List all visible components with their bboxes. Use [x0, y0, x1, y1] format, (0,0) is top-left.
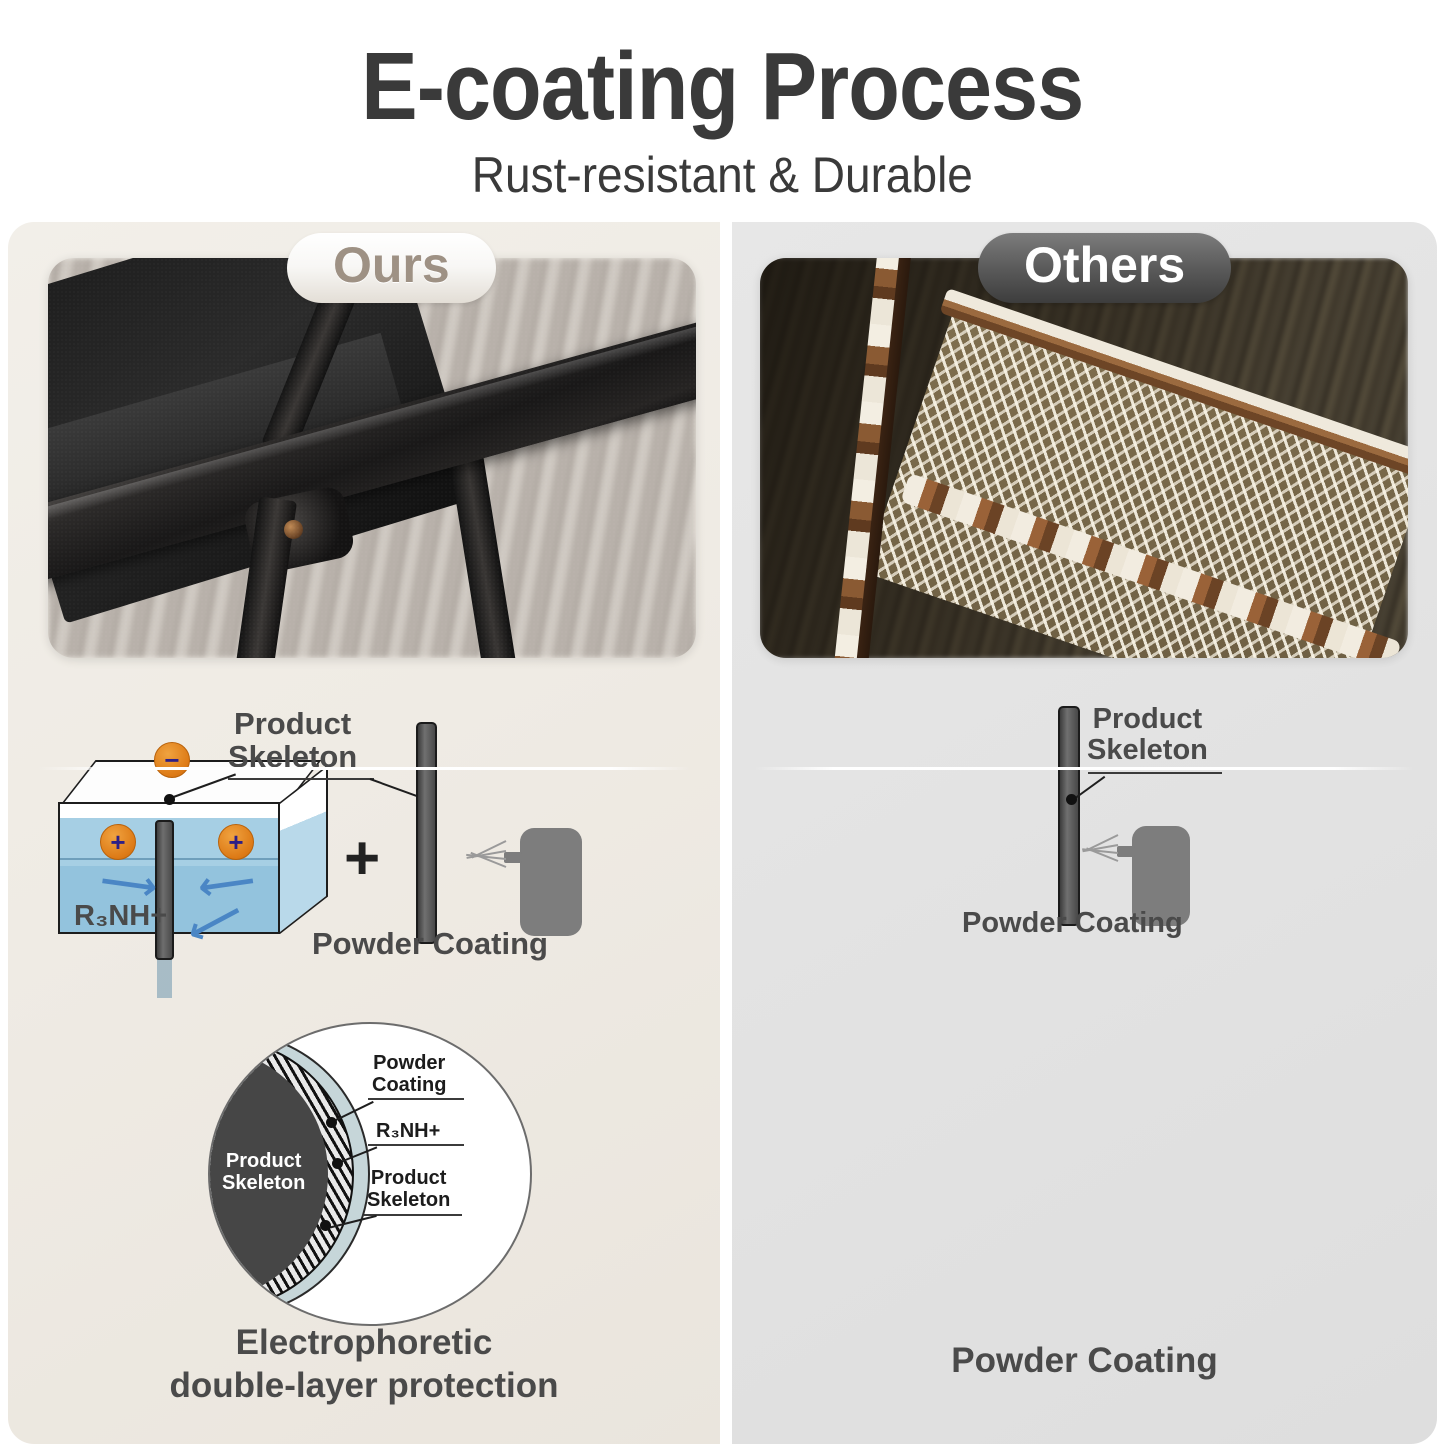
- charge-positive-icon-1: +: [100, 824, 136, 860]
- product-skeleton-rod-others: [1058, 706, 1080, 926]
- panel-divider-ours: [38, 767, 690, 770]
- underline-product-skeleton-ours: [364, 1214, 462, 1216]
- photo-ours-image: [48, 258, 696, 658]
- underline-powder-coating-ours: [368, 1098, 464, 1100]
- ps-leader-dot-a: [164, 794, 175, 805]
- process-diagram-ours: − + + ⟶ ⟵ ⟵ R₃NH+ Product Skeleton +: [48, 700, 688, 990]
- label-r3nh-ours: R₃NH+: [376, 1120, 440, 1142]
- panel-divider-others: [754, 767, 1414, 770]
- product-skeleton-label-others: Product Skeleton: [1087, 704, 1208, 765]
- caption-others: Powder Coating: [732, 1340, 1437, 1383]
- solution-label: R₃NH+: [74, 900, 167, 933]
- panel-others: Others Product Skeleton Powder Coating: [732, 222, 1437, 1444]
- core-label-ours: Product Skeleton: [222, 1150, 305, 1195]
- caption-ours-line2: double-layer protection: [8, 1365, 720, 1408]
- label-pc-line2: Coating: [372, 1074, 446, 1096]
- charge-positive-icon-2: +: [218, 824, 254, 860]
- spray-gun-nozzle-others: [1117, 846, 1135, 857]
- ps-leader-dot-others: [1066, 794, 1077, 805]
- electrophoresis-tank: − + + ⟶ ⟵ ⟵ R₃NH+: [58, 760, 318, 940]
- photo-others: [760, 258, 1408, 658]
- core-label-line2: Skeleton: [222, 1172, 305, 1194]
- photo-ours: [48, 258, 696, 658]
- caption-ours: Electrophoretic double-layer protection: [8, 1322, 720, 1407]
- label-ps-line1: Product: [367, 1167, 450, 1189]
- comparison-panels: Ours − + + ⟶ ⟵ ⟵ R₃NH+ Product: [0, 222, 1445, 1444]
- combine-plus-symbol: +: [344, 828, 380, 890]
- panel-ours: Ours − + + ⟶ ⟵ ⟵ R₃NH+ Product: [8, 222, 720, 1444]
- product-skeleton-rod-in-tank: [155, 820, 174, 960]
- dot-powder-coating-ours: [326, 1117, 337, 1128]
- caption-ours-line1: Electrophoretic: [8, 1322, 720, 1365]
- ps-label-underline-others: [1088, 772, 1222, 774]
- spray-gun-body: [520, 828, 582, 936]
- page-title: E-coating Process: [361, 36, 1083, 138]
- ps-label-underline-ours-2: [236, 778, 374, 780]
- coating-texture-grain: [48, 258, 696, 658]
- photo-others-image: [760, 258, 1408, 658]
- underline-r3nh-ours: [368, 1144, 464, 1146]
- label-ps-line2: Skeleton: [367, 1189, 450, 1211]
- dot-r3nh-ours: [332, 1158, 343, 1169]
- badge-others: Others: [978, 233, 1231, 303]
- dot-product-skeleton-ours: [320, 1220, 331, 1231]
- label-pc-line1: Powder: [372, 1052, 446, 1074]
- label-product-skeleton-ours: Product Skeleton: [367, 1167, 450, 1211]
- badge-ours: Ours: [287, 233, 496, 303]
- ps-label-others-line2: Skeleton: [1087, 735, 1208, 766]
- core-label-line1: Product: [222, 1150, 305, 1172]
- caption-others-line1: Powder Coating: [732, 1340, 1437, 1383]
- cross-section-ours: Product Skeleton Powder Coating R₃NH+ Pr…: [208, 1022, 528, 1322]
- ps-label-line1: Product: [228, 708, 357, 741]
- process-diagram-others: Product Skeleton Powder Coating: [962, 702, 1382, 982]
- page-header: E-coating Process Rust-resistant & Durab…: [0, 0, 1445, 222]
- label-powder-coating-ours: Powder Coating: [372, 1052, 446, 1096]
- product-skeleton-label-ours: Product Skeleton: [228, 708, 357, 774]
- page-subtitle: Rust-resistant & Durable: [472, 148, 973, 203]
- powder-coating-label-ours: Powder Coating: [312, 928, 548, 961]
- charge-negative-icon: −: [154, 742, 190, 778]
- ps-label-others-line1: Product: [1087, 704, 1208, 735]
- product-skeleton-rod-bare: [416, 722, 437, 944]
- spray-gun-nozzle: [504, 852, 522, 863]
- cross-section-circle-ours: Product Skeleton Powder Coating R₃NH+ Pr…: [208, 1022, 532, 1326]
- powder-coating-label-others: Powder Coating: [962, 908, 1183, 939]
